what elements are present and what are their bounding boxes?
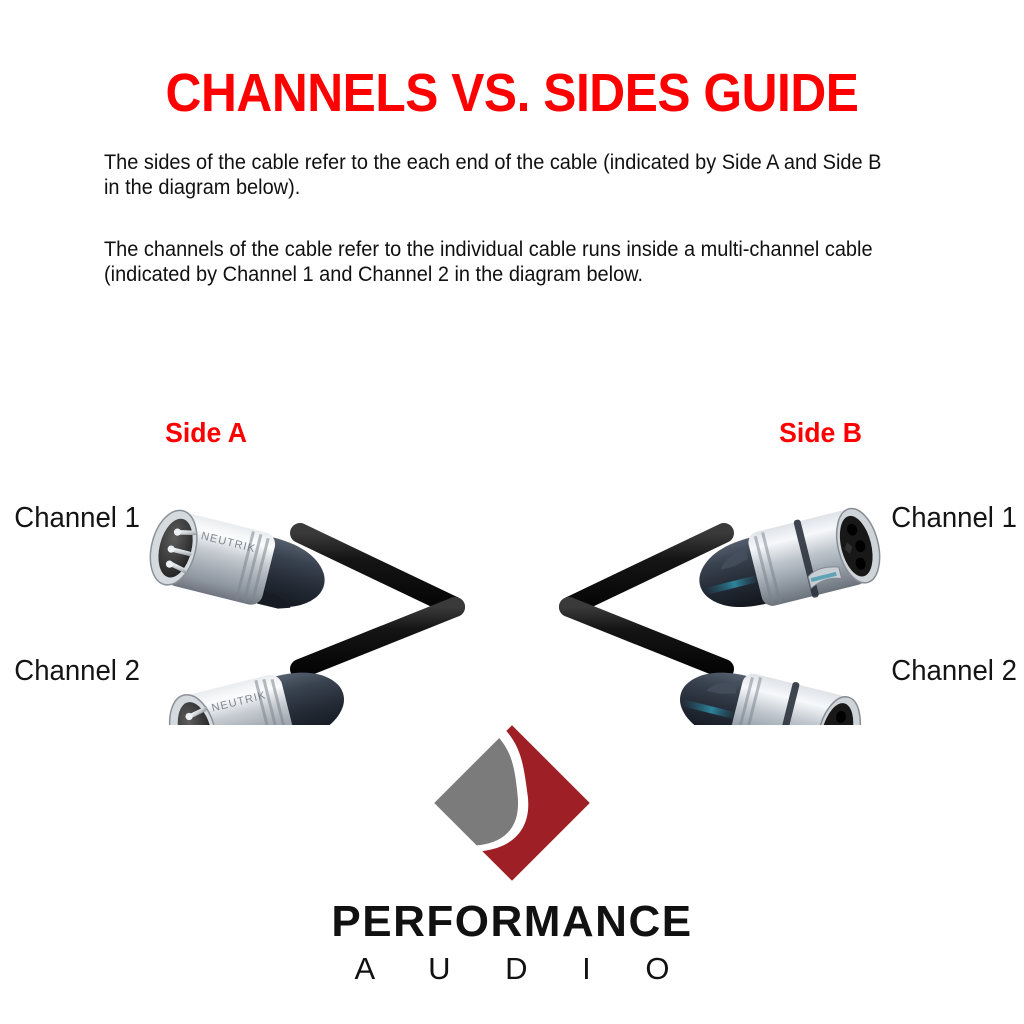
cable-diagram: NEUTRIK NEUTR — [0, 455, 1024, 725]
cable-run-ch2-side-a — [300, 607, 455, 669]
intro-paragraph-sides: The sides of the cable refer to the each… — [104, 150, 898, 200]
brand-name-audio: A U D I O — [0, 953, 1024, 984]
cable-run-ch1-side-b — [569, 533, 724, 607]
page-title: CHANNELS VS. SIDES GUIDE — [41, 62, 983, 124]
guide-page: CHANNELS VS. SIDES GUIDE The sides of th… — [0, 0, 1024, 1024]
cable-run-ch1-side-a — [300, 533, 455, 607]
side-b-label: Side B — [779, 417, 862, 449]
cable-runs — [300, 533, 724, 669]
side-a-label: Side A — [165, 417, 247, 449]
cable-run-ch2-side-b — [569, 607, 724, 669]
xlr-female-connector-right-top — [690, 502, 887, 624]
intro-paragraph-channels: The channels of the cable refer to the i… — [104, 237, 898, 287]
performance-audio-diamond-logo — [421, 712, 603, 894]
brand-logo-block: PERFORMANCE A U D I O — [0, 712, 1024, 984]
xlr-male-connector-left-top: NEUTRIK — [143, 505, 333, 622]
brand-name-performance: PERFORMANCE — [0, 900, 1024, 944]
